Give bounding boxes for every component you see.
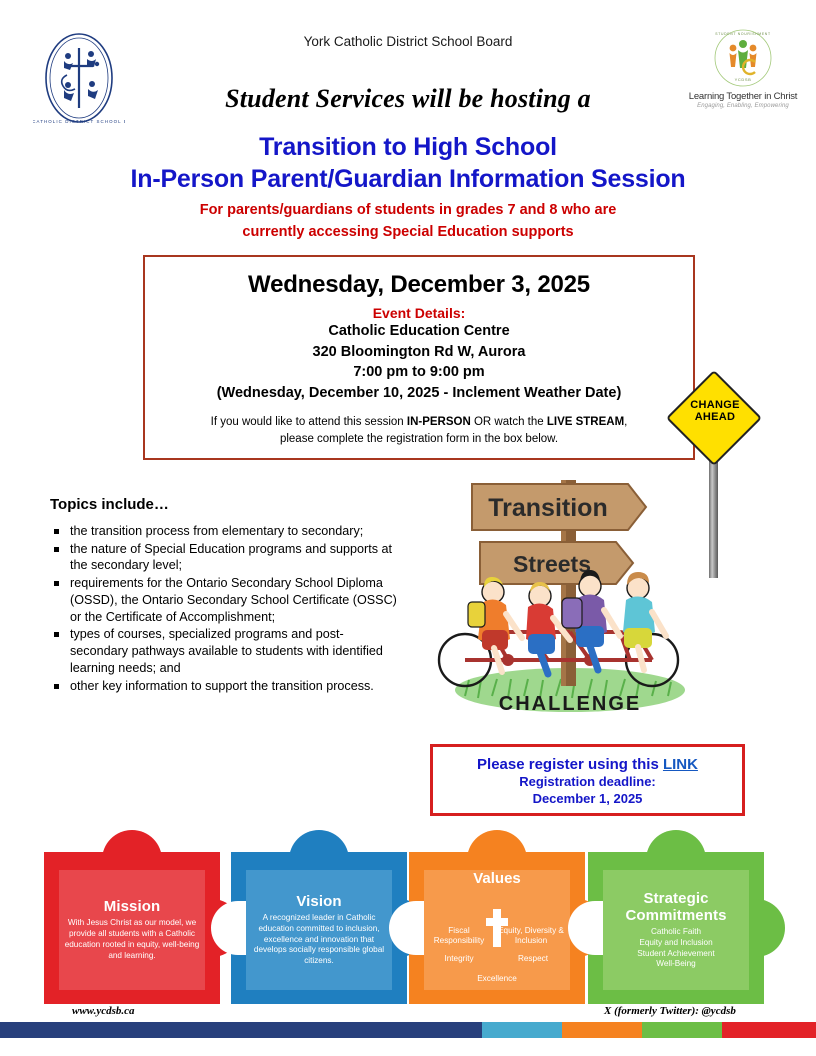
page-header: YORK CATHOLIC DISTRICT SCHOOL BOARD York… <box>0 0 816 140</box>
event-note-line-2: please complete the registration form in… <box>167 431 671 448</box>
list-item: requirements for the Ontario Secondary S… <box>50 575 400 625</box>
registration-link[interactable]: LINK <box>663 756 698 773</box>
transition-streets-illustration: Transition Streets <box>430 462 710 722</box>
event-note-pre: If you would like to attend this session <box>211 416 407 428</box>
student-nourishment-badge-icon: STUDENT NOURISHMENT YCDSB <box>711 26 775 90</box>
puzzle-title: Mission <box>62 898 202 915</box>
footer-website[interactable]: www.ycdsb.ca <box>72 1005 135 1017</box>
puzzle-inner: Values Catholicity Fiscal Responsibility… <box>424 870 570 990</box>
value-excellence: Excellence <box>424 974 570 984</box>
illustration-sign-top-text: Transition <box>488 494 607 522</box>
value-integrity: Integrity <box>428 954 490 964</box>
event-details-box: Wednesday, December 3, 2025 Event Detail… <box>143 255 695 460</box>
subtitle: For parents/guardians of students in gra… <box>0 200 816 244</box>
title-line-2: In-Person Parent/Guardian Information Se… <box>0 164 816 196</box>
topics-section: Topics include… the transition process f… <box>50 496 400 695</box>
subtitle-line-1: For parents/guardians of students in gra… <box>0 200 816 222</box>
sign-text-line-1: CHANGE <box>671 400 759 412</box>
bar-segment-navy <box>0 1022 482 1038</box>
topics-heading: Topics include… <box>50 496 400 513</box>
learning-together-logo: STUDENT NOURISHMENT YCDSB Learning Toget… <box>688 26 798 126</box>
bar-segment-blue <box>482 1022 562 1038</box>
puzzle-title: Vision <box>249 893 389 910</box>
puzzle-title: Strategic Commitments <box>606 890 746 924</box>
puzzle-body-text: Catholic Faith Equity and Inclusion Stud… <box>606 927 746 971</box>
bar-segment-red <box>722 1022 816 1038</box>
bar-segment-orange <box>562 1022 642 1038</box>
list-item: the transition process from elementary t… <box>50 523 400 540</box>
puzzle-piece-values: Values Catholicity Fiscal Responsibility… <box>409 852 585 1004</box>
event-time: 7:00 pm to 9:00 pm <box>145 362 693 383</box>
list-item: types of courses, specialized programs a… <box>50 626 400 676</box>
puzzle-inner: Strategic Commitments Catholic Faith Equ… <box>603 870 749 990</box>
logo-tagline: Learning Together in Christ <box>688 92 798 102</box>
values-grid: Values Catholicity Fiscal Responsibility… <box>424 870 570 990</box>
value-equity-diversity-inclusion: Equity, Diversity & Inclusion <box>494 926 568 947</box>
puzzle-strip: Mission With Jesus Christ as our model, … <box>0 826 816 1006</box>
list-item: the nature of Special Education programs… <box>50 541 400 574</box>
svg-text:STUDENT NOURISHMENT: STUDENT NOURISHMENT <box>715 32 770 36</box>
svg-text:YCDSB: YCDSB <box>735 77 752 82</box>
footer-twitter-handle[interactable]: X (formerly Twitter): @ycdsb <box>604 1005 736 1017</box>
puzzle-body-text: A recognized leader in Catholic educatio… <box>249 913 389 968</box>
bottom-color-bar <box>0 1022 816 1038</box>
puzzle-piece-vision: Vision A recognized leader in Catholic e… <box>231 852 407 1004</box>
puzzle-inner: Vision A recognized leader in Catholic e… <box>246 870 392 990</box>
illustration-sign-bottom-text: Streets <box>513 551 591 577</box>
bar-segment-green <box>642 1022 722 1038</box>
sign-text-line-2: AHEAD <box>671 412 759 424</box>
event-venue: Catholic Education Centre <box>145 321 693 342</box>
event-inclement-date: (Wednesday, December 10, 2025 - Inclemen… <box>145 383 693 404</box>
flyer-page: YORK CATHOLIC DISTRICT SCHOOL BOARD York… <box>0 0 816 1056</box>
puzzle-inner: Mission With Jesus Christ as our model, … <box>59 870 205 990</box>
title-line-1: Transition to High School <box>0 132 816 164</box>
illustration-caption: CHALLENGE <box>499 693 641 715</box>
title-block: Transition to High School In-Person Pare… <box>0 132 816 244</box>
event-note-live-stream: LIVE STREAM <box>547 416 624 428</box>
event-date: Wednesday, December 3, 2025 <box>145 271 693 299</box>
register-line-1: Please register using this LINK <box>433 756 742 773</box>
puzzle-piece-strategic-commitments: Strategic Commitments Catholic Faith Equ… <box>588 852 764 1004</box>
register-prefix: Please register using this <box>477 756 663 773</box>
svg-text:YORK CATHOLIC DISTRICT SCHOOL: YORK CATHOLIC DISTRICT SCHOOL BOARD <box>33 119 125 124</box>
sign-text: CHANGE AHEAD <box>671 400 759 423</box>
puzzle-body-text: With Jesus Christ as our model, we provi… <box>62 918 202 962</box>
event-note-mid: OR watch the <box>471 416 547 428</box>
value-respect: Respect <box>502 954 564 964</box>
list-item: other key information to support the tra… <box>50 678 400 695</box>
topics-list: the transition process from elementary t… <box>50 523 400 694</box>
puzzle-title: Values <box>424 870 570 887</box>
event-details-label: Event Details: <box>145 305 693 321</box>
registration-box[interactable]: Please register using this LINK Registra… <box>430 744 745 816</box>
event-address: 320 Bloomington Rd W, Aurora <box>145 342 693 363</box>
event-note-post: , <box>624 416 627 428</box>
subtitle-line-2: currently accessing Special Education su… <box>0 222 816 244</box>
event-note: If you would like to attend this session… <box>145 414 693 447</box>
value-fiscal-responsibility: Fiscal Responsibility <box>426 926 492 947</box>
registration-deadline-label: Registration deadline: <box>433 773 742 790</box>
puzzle-piece-mission: Mission With Jesus Christ as our model, … <box>44 852 220 1004</box>
event-note-in-person: IN-PERSON <box>407 416 471 428</box>
logo-subtagline: Engaging, Enabling, Empowering <box>688 103 798 109</box>
registration-deadline-date: December 1, 2025 <box>433 790 742 807</box>
